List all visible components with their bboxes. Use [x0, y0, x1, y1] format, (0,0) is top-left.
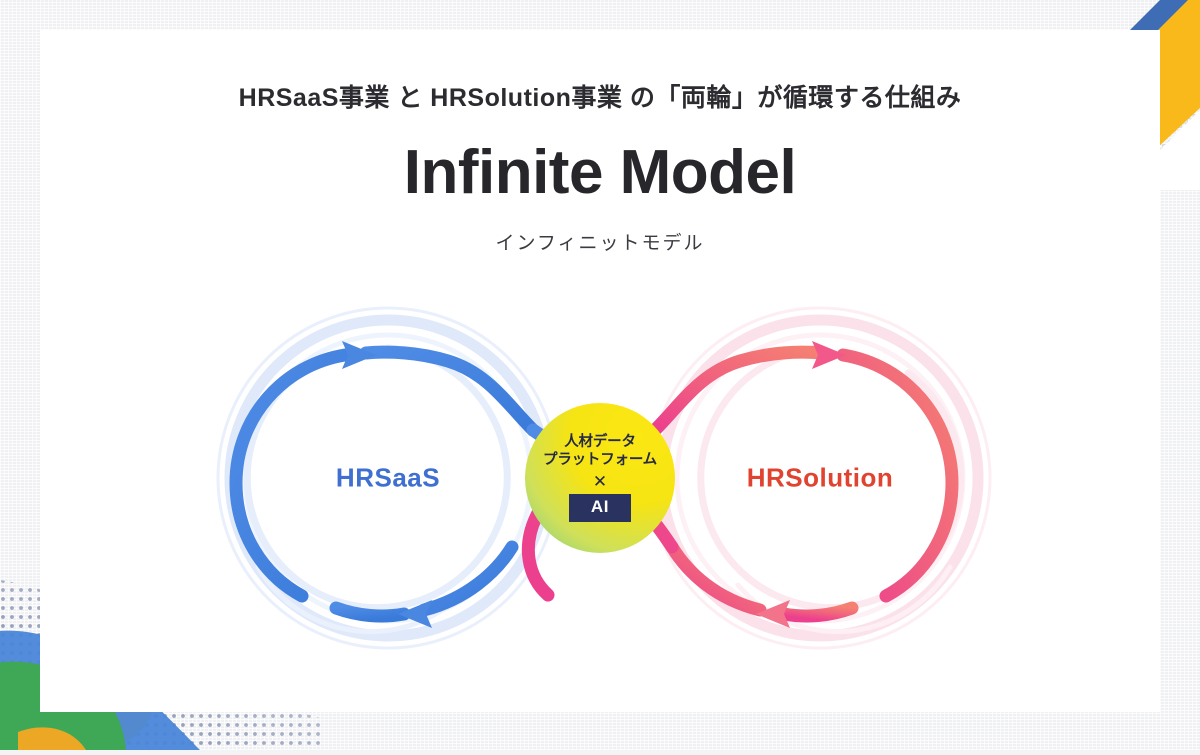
page-subtitle: インフィニットモデル: [0, 228, 1200, 255]
multiply-icon: ✕: [593, 473, 607, 490]
page-title: Infinite Model: [0, 140, 1200, 205]
slide-canvas: HRSaaS事業 と HRSolution事業 の「両輪」が循環する仕組み In…: [0, 0, 1200, 750]
headline: HRSaaS事業 と HRSolution事業 の「両輪」が循環する仕組み: [0, 78, 1200, 114]
left-loop-label: HRSaaS: [336, 463, 440, 494]
hub-line-1: 人材データ: [564, 434, 636, 452]
center-hub: 人材データ プラットフォーム ✕ AI: [525, 403, 675, 553]
right-loop-label: HRSolution: [747, 463, 894, 494]
ai-badge: AI: [569, 494, 631, 522]
hub-line-2: プラットフォーム: [543, 452, 657, 470]
